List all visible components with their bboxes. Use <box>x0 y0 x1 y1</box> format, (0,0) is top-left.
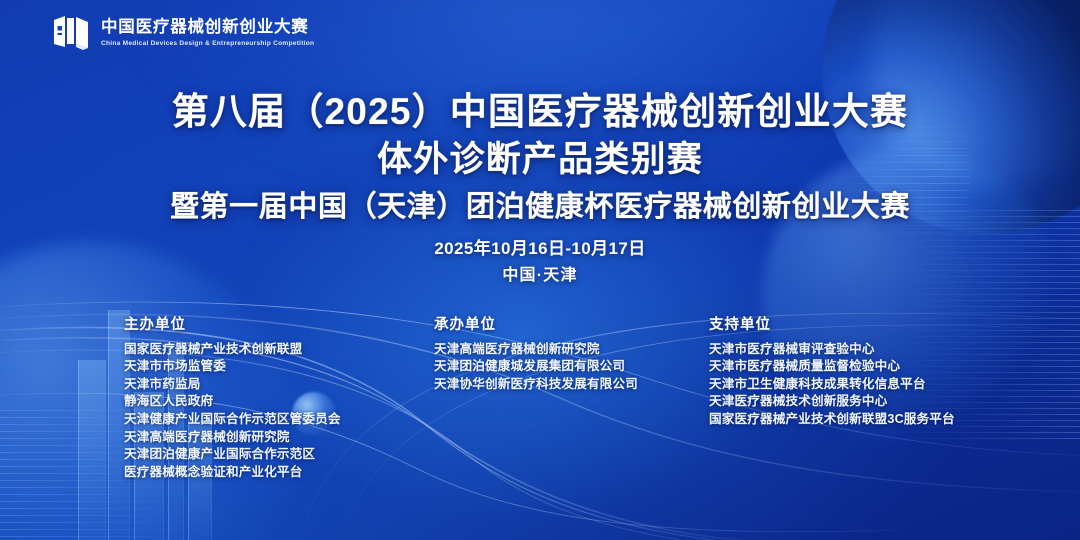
organizer-item: 天津市医疗器械审评查验中心 <box>709 341 1009 359</box>
event-meta-block: 2025年10月16日-10月17日 中国·天津 <box>0 236 1080 288</box>
logo-title-en: China Medical Devices Design & Entrepren… <box>101 39 314 48</box>
organizer-item: 天津市医疗器械质量监督检验中心 <box>709 358 1009 376</box>
organizer-column-undertakers: 承办单位 天津高端医疗器械创新研究院 天津团泊健康城发展集团有限公司 天津协华创… <box>434 316 709 393</box>
organizer-item: 天津团泊健康产业国际合作示范区 <box>124 446 434 464</box>
open-book-gateway-icon <box>52 14 92 52</box>
main-title-line-1: 第八届（2025）中国医疗器械创新创业大赛 <box>0 88 1080 135</box>
organizer-column-hosts: 主办单位 国家医疗器械产业技术创新联盟 天津市市场监管委 天津市药监局 静海区人… <box>124 316 434 481</box>
title-block: 第八届（2025）中国医疗器械创新创业大赛 体外诊断产品类别赛 暨第一届中国（天… <box>0 88 1080 227</box>
organizer-item: 国家医疗器械产业技术创新联盟3C服务平台 <box>709 411 1009 429</box>
organizer-item: 天津市市场监管委 <box>124 358 434 376</box>
organizer-item: 天津高端医疗器械创新研究院 <box>434 341 709 359</box>
organizer-item: 天津医疗器械技术创新服务中心 <box>709 393 1009 411</box>
competition-logo: 中国医疗器械创新创业大赛 China Medical Devices Desig… <box>52 14 314 52</box>
logo-text-block: 中国医疗器械创新创业大赛 China Medical Devices Desig… <box>101 18 314 48</box>
event-banner: 中国医疗器械创新创业大赛 China Medical Devices Desig… <box>0 0 1080 540</box>
organizer-column-supporters: 支持单位 天津市医疗器械审评查验中心 天津市医疗器械质量监督检验中心 天津市卫生… <box>709 316 1009 429</box>
main-title-line-2: 体外诊断产品类别赛 <box>0 137 1080 183</box>
organizer-column-title: 支持单位 <box>709 316 1009 336</box>
event-date: 2025年10月16日-10月17日 <box>0 236 1080 262</box>
organizer-item: 医疗器械概念验证和产业化平台 <box>124 464 434 482</box>
organizer-item: 天津协华创新医疗科技发展有限公司 <box>434 376 709 394</box>
main-title-line-3: 暨第一届中国（天津）团泊健康杯医疗器械创新创业大赛 <box>0 189 1080 227</box>
organizer-item: 天津市药监局 <box>124 376 434 394</box>
organizer-item: 静海区人民政府 <box>124 393 434 411</box>
organizers-section: 主办单位 国家医疗器械产业技术创新联盟 天津市市场监管委 天津市药监局 静海区人… <box>0 316 1080 481</box>
organizer-column-title: 主办单位 <box>124 316 434 336</box>
logo-title-cn: 中国医疗器械创新创业大赛 <box>101 18 314 37</box>
organizer-item: 天津市卫生健康科技成果转化信息平台 <box>709 376 1009 394</box>
organizer-column-title: 承办单位 <box>434 316 709 336</box>
event-location: 中国·天津 <box>0 264 1080 288</box>
organizer-item: 天津高端医疗器械创新研究院 <box>124 429 434 447</box>
organizer-item: 天津团泊健康城发展集团有限公司 <box>434 358 709 376</box>
organizer-item: 天津健康产业国际合作示范区管委员会 <box>124 411 434 429</box>
organizer-item: 国家医疗器械产业技术创新联盟 <box>124 341 434 359</box>
